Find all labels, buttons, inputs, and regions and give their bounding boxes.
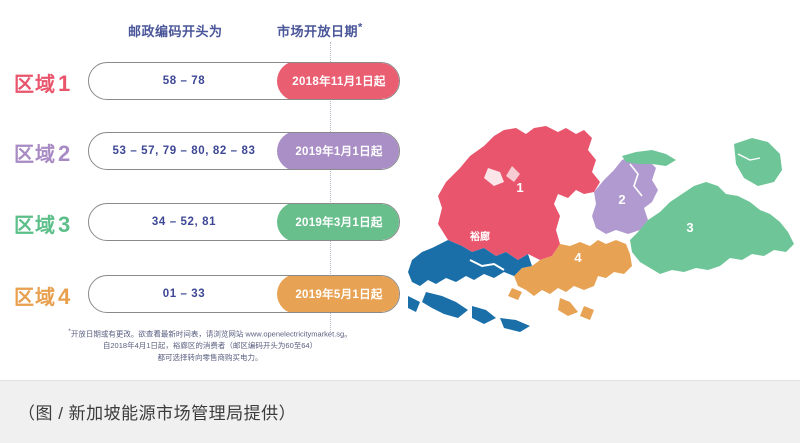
zone-label-1-text: 区域 [14, 74, 56, 96]
zone-label-4-number: 4 [58, 284, 71, 309]
footnote-line-1-text: 开放日期或有更改。欲查看最新时间表，请浏览网站 www.openelectric… [71, 330, 352, 339]
zone-label-3-text: 区域 [14, 215, 56, 237]
zone-label-2: 区域2 [14, 138, 71, 167]
zone-label-4: 区域4 [14, 281, 71, 310]
map-label-region-4: 4 [574, 250, 582, 265]
map-island-jurong-3 [408, 296, 420, 312]
caption-band: （图 / 新加坡能源市场管理局提供） [0, 380, 800, 443]
zone-label-1-number: 1 [58, 71, 71, 96]
map-region-4-spit-2 [580, 306, 594, 320]
zone-row-2: 区域2 53 – 57, 79 – 80, 82 – 83 2019年1月1日起 [0, 132, 420, 174]
zone-label-3: 区域3 [14, 209, 71, 238]
open-date-1: 2018年11月1日起 [277, 62, 400, 100]
footnote-line-3: 都可选择转向零售商购买电力。 [0, 352, 420, 364]
map-label-region-3: 3 [686, 220, 693, 235]
footnote-marker-header: * [358, 22, 363, 34]
zone-label-2-number: 2 [58, 141, 71, 166]
zone-row-1: 区域1 58 – 78 2018年11月1日起 [0, 62, 420, 104]
footnote-block: *开放日期或有更改。欲查看最新时间表，请浏览网站 www.openelectri… [0, 326, 420, 363]
open-date-2: 2019年1月1日起 [277, 132, 400, 170]
column-header-open-date: 市场开放日期* [277, 21, 363, 40]
map-label-region-1: 1 [516, 180, 523, 195]
zone-pill-3: 34 – 52, 81 2019年3月1日起 [88, 203, 400, 241]
zone-label-1: 区域1 [14, 68, 71, 97]
zone-row-3: 区域3 34 – 52, 81 2019年3月1日起 [0, 203, 420, 245]
map-label-region-2: 2 [618, 192, 625, 207]
map-island-sentosa [500, 318, 530, 332]
map-region-4-spit-3 [508, 288, 522, 300]
footnote-line-1: *开放日期或有更改。欲查看最新时间表，请浏览网站 www.openelectri… [0, 326, 420, 340]
map-island-jurong-1 [422, 292, 468, 318]
map-island-jurong-2 [472, 306, 496, 324]
map-region-4-spit-1 [558, 298, 578, 316]
zone-pill-1: 58 – 78 2018年11月1日起 [88, 62, 400, 100]
infographic-panel: 邮政编码开头为 市场开放日期* 区域1 58 – 78 2018年11月1日起 … [0, 0, 800, 380]
zone-pill-4: 01 – 33 2019年5月1日起 [88, 275, 400, 313]
open-date-3: 2019年3月1日起 [277, 203, 400, 241]
map-island-tekong [734, 138, 782, 186]
map-label-jurong: 裕廊 [469, 230, 490, 243]
zone-pill-2: 53 – 57, 79 – 80, 82 – 83 2019年1月1日起 [88, 132, 400, 170]
column-header-postal-code: 邮政编码开头为 [128, 21, 223, 40]
zone-row-4: 区域4 01 – 33 2019年5月1日起 [0, 275, 420, 317]
column-header-open-date-text: 市场开放日期 [277, 24, 358, 39]
image-credit-caption: （图 / 新加坡能源市场管理局提供） [18, 399, 296, 424]
open-date-4: 2019年5月1日起 [277, 275, 400, 313]
footnote-line-2: 自2018年4月1日起，裕廊区的消费者（邮区编码开头为60至64） [0, 340, 420, 352]
zone-label-4-text: 区域 [14, 287, 56, 309]
zone-label-3-number: 3 [58, 212, 71, 237]
singapore-region-map: 1 2 3 4 裕廊 [408, 120, 800, 335]
zone-label-2-text: 区域 [14, 144, 56, 166]
